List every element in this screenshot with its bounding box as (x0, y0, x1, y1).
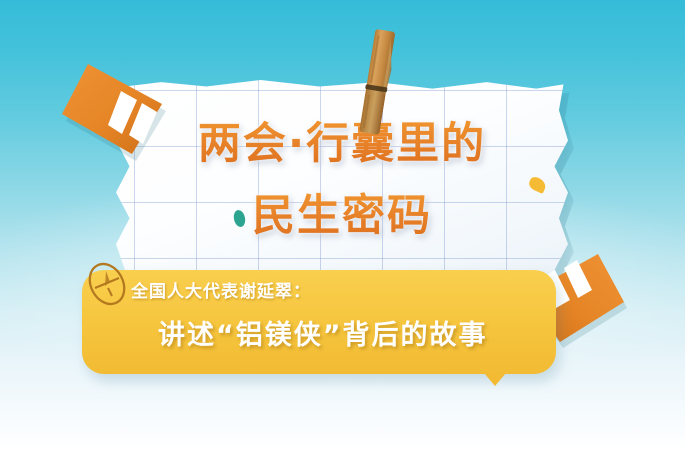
paper-grid-lines (116, 80, 568, 296)
paper-note: 两会·行囊里的 民生密码 (116, 80, 568, 296)
quote-badge-left-icon (58, 58, 166, 166)
oval-seal-badge-icon (84, 258, 130, 310)
poster-canvas: 两会·行囊里的 民生密码 (0, 0, 685, 449)
banner-subtitle-line-2: 讲述“铝镁侠”背后的故事 (158, 313, 488, 352)
banner-notch-icon (484, 373, 506, 386)
banner-subtitle-line-1: 全国人大代表谢延翠： (131, 277, 311, 302)
